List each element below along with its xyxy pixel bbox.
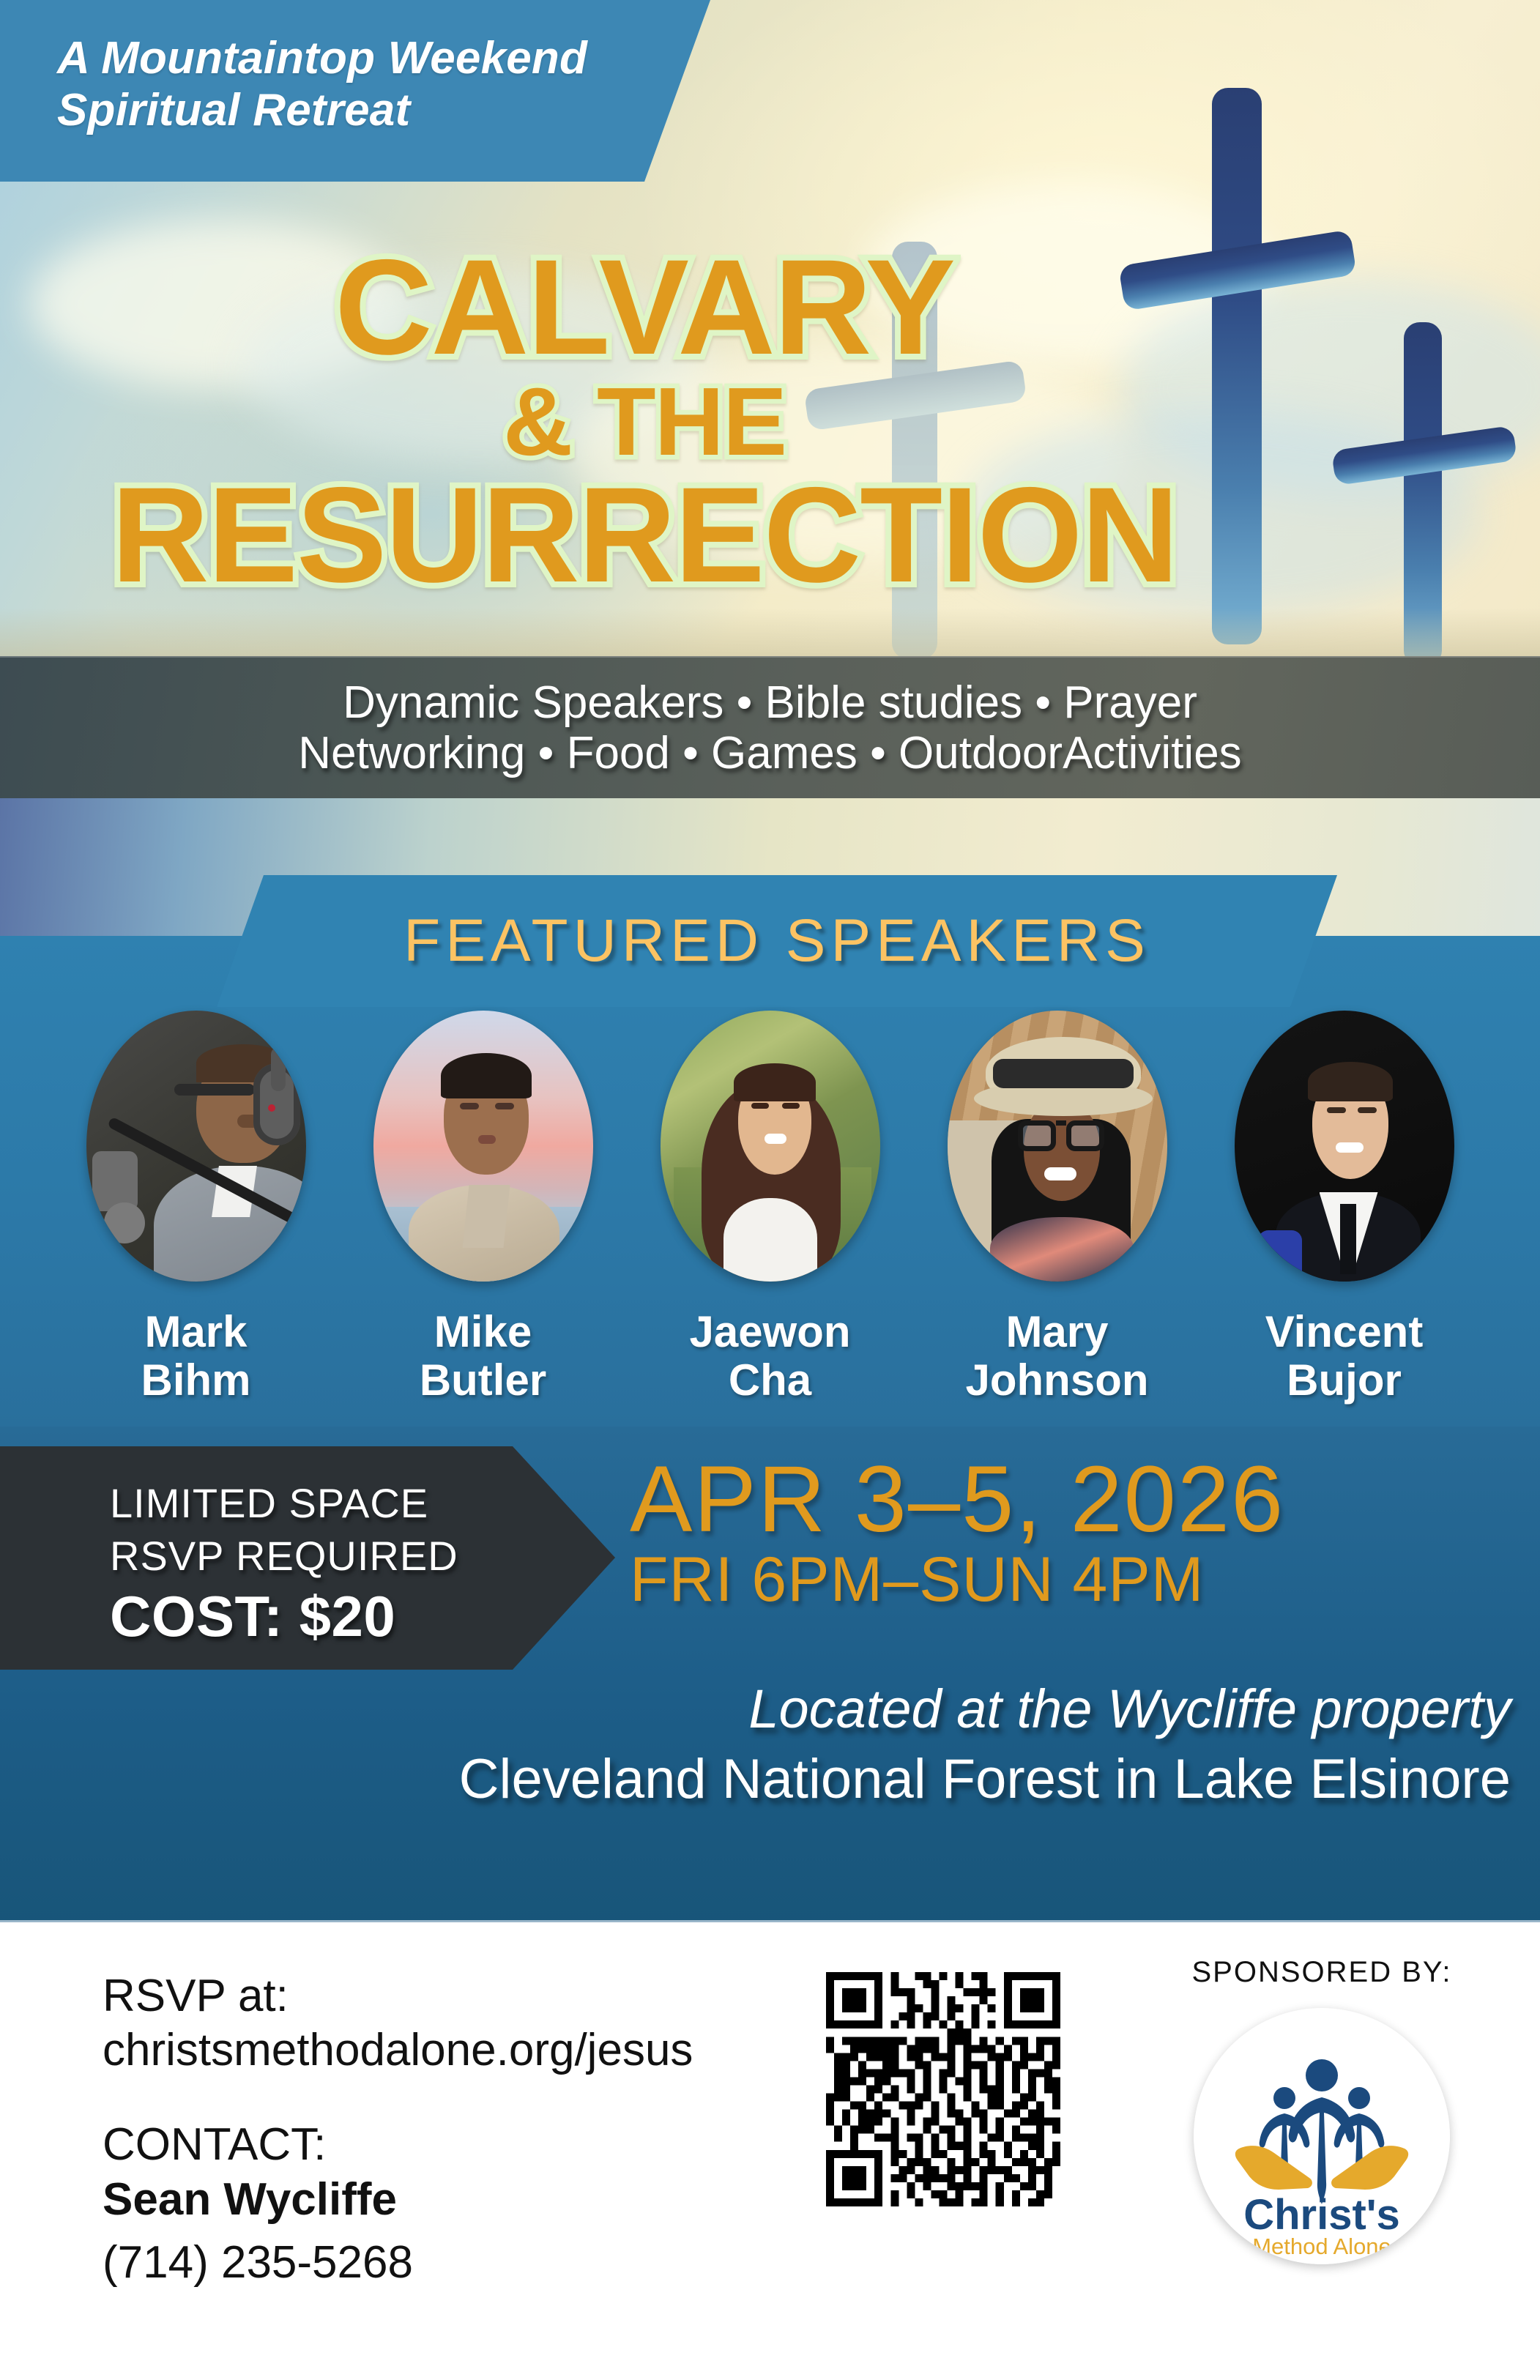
location-line-1: Located at the Wycliffe property [0,1677,1511,1741]
speaker-card: Mike Butler [362,1011,604,1405]
speaker-first-name: Mary [937,1308,1178,1356]
contact-name: Sean Wycliffe [103,2172,762,2228]
speaker-photo-jaewon-cha [661,1011,880,1282]
title-line-3: RESURRECTION [0,469,1289,602]
speaker-card: Mary Johnson [937,1011,1178,1405]
date-main: APR 3–5, 2026 [630,1454,1509,1545]
features-line-2: Networking • Food • Games • OutdoorActiv… [298,728,1241,778]
title-line-2: & THE [0,374,1289,469]
cost-flag: LIMITED SPACE RSVP REQUIRED COST: $20 [0,1446,615,1670]
speaker-name: Jaewon Cha [650,1308,891,1405]
contact-phone[interactable]: (714) 235-5268 [103,2235,762,2291]
event-location: Located at the Wycliffe property Clevela… [0,1677,1511,1812]
rsvp-label: RSVP at: [103,1969,762,2023]
location-line-2: Cleveland National Forest in Lake Elsino… [0,1747,1511,1812]
sponsor-logo: Christ's Method Alone [1194,2008,1450,2264]
speaker-last-name: Johnson [937,1356,1178,1405]
title-line-1: CALVARY [0,242,1289,374]
speaker-last-name: Bihm [75,1356,317,1405]
sponsor-block: SPONSORED BY: [1164,1956,1479,2264]
speaker-first-name: Mark [75,1308,317,1356]
speaker-photo-mike-butler [373,1011,593,1282]
speaker-card: Mark Bihm [75,1011,317,1405]
rsvp-required-label: RSVP REQUIRED [110,1530,615,1583]
hero-section: A Mountaintop Weekend Spiritual Retreat … [0,0,1540,659]
sponsored-by-label: SPONSORED BY: [1164,1956,1479,1989]
event-poster: A Mountaintop Weekend Spiritual Retreat … [0,0,1540,2380]
speaker-photo-mary-johnson [948,1011,1167,1282]
ground-gradient [0,608,1540,659]
speaker-first-name: Jaewon [650,1308,891,1356]
speaker-name: Mike Butler [362,1308,604,1405]
speaker-name: Mary Johnson [937,1308,1178,1405]
limited-space-label: LIMITED SPACE [110,1477,615,1530]
speaker-card: Jaewon Cha [650,1011,891,1405]
tagline-line-2: Spiritual Retreat [57,84,710,136]
speaker-photo-vincent-bujor [1235,1011,1454,1282]
speaker-list: Mark Bihm Mike Butler [0,1011,1540,1405]
rsvp-url[interactable]: christsmethodalone.org/jesus [103,2023,762,2078]
event-date: APR 3–5, 2026 FRI 6PM–SUN 4PM [630,1454,1509,1613]
poster-title: CALVARY & THE RESURRECTION [0,242,1289,602]
speaker-card: Vincent Bujor [1224,1011,1465,1405]
speaker-last-name: Butler [362,1356,604,1405]
speaker-name: Vincent Bujor [1224,1308,1465,1405]
cost-label: COST: $20 [110,1585,615,1648]
qr-code[interactable] [826,1972,1060,2206]
features-bar: Dynamic Speakers • Bible studies • Praye… [0,656,1540,798]
featured-speakers-heading: FEATURED SPEAKERS [403,907,1150,975]
featured-speakers-banner: FEATURED SPEAKERS [217,875,1337,1007]
logo-name-top: Christ's [1243,2191,1400,2239]
speaker-name: Mark Bihm [75,1308,317,1405]
contact-block: RSVP at: christsmethodalone.org/jesus CO… [103,1969,762,2290]
speaker-photo-mark-bihm [86,1011,306,1282]
contact-label: CONTACT: [103,2118,762,2172]
footer-section: RSVP at: christsmethodalone.org/jesus CO… [0,1920,1540,2380]
tagline-line-1: A Mountaintop Weekend [57,32,710,84]
features-line-1: Dynamic Speakers • Bible studies • Praye… [298,677,1241,728]
speaker-first-name: Vincent [1224,1308,1465,1356]
speaker-last-name: Bujor [1224,1356,1465,1405]
retreat-tagline-banner: A Mountaintop Weekend Spiritual Retreat [0,0,710,182]
date-times: FRI 6PM–SUN 4PM [630,1548,1509,1613]
speaker-first-name: Mike [362,1308,604,1356]
logo-name-bottom: Method Alone [1252,2234,1391,2259]
speaker-last-name: Cha [650,1356,891,1405]
